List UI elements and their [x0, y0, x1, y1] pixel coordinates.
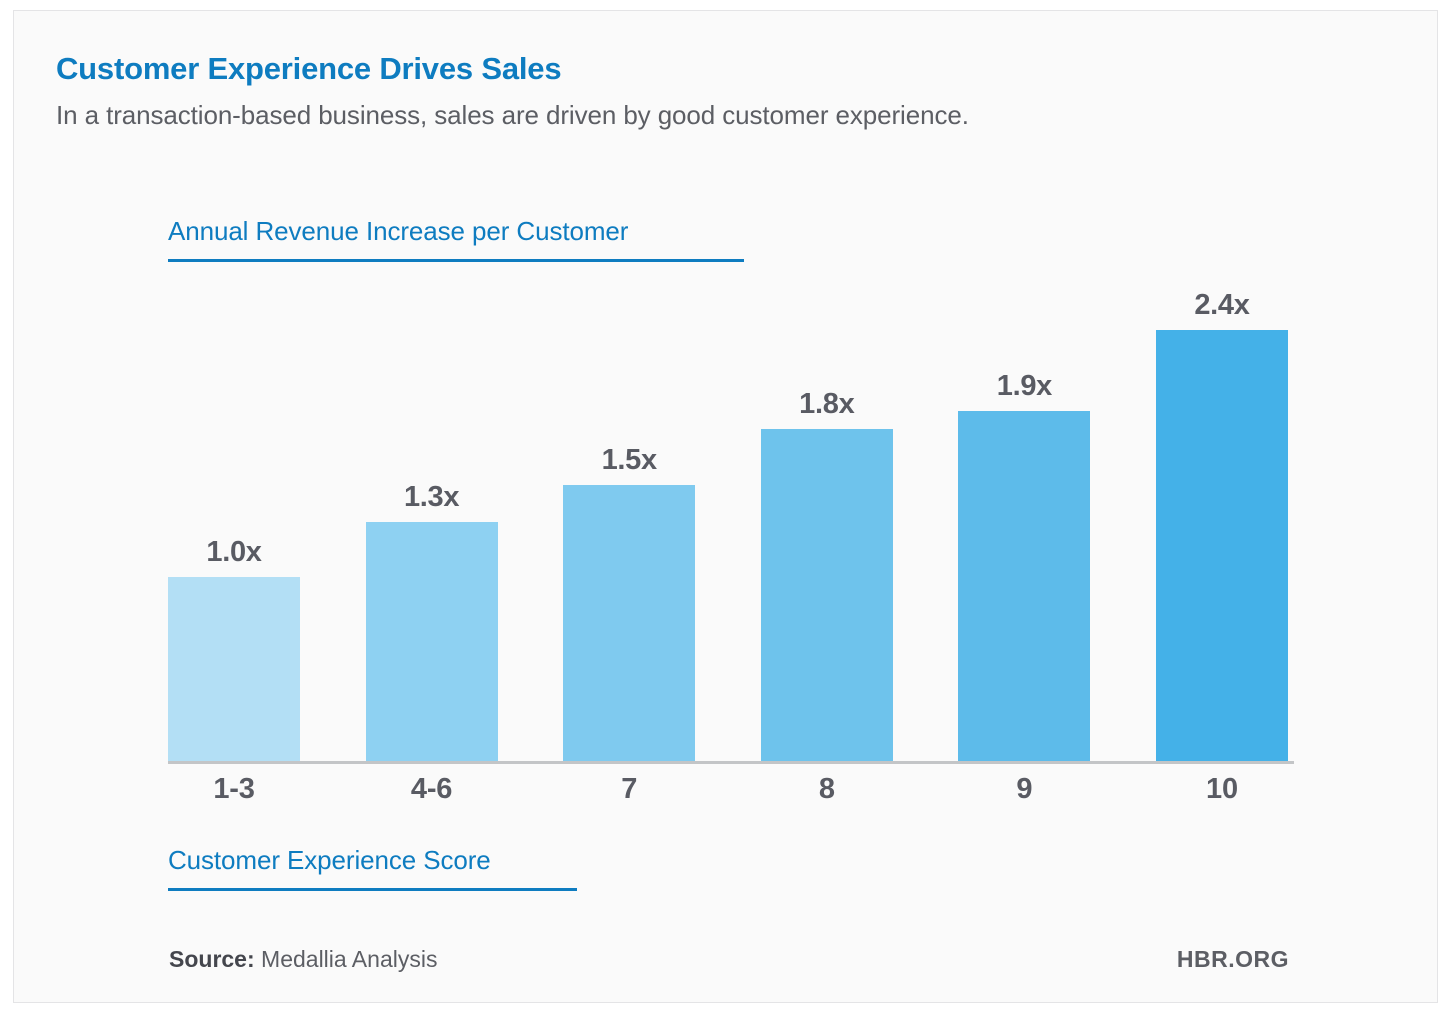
y-axis-title-underline: [168, 259, 744, 262]
bar-group: 1.0x: [168, 291, 300, 761]
bar-rect[interactable]: [168, 577, 300, 761]
plot-area: 1.0x 1.3x 1.5x 1.8x 1.9x 2.4x: [168, 291, 1288, 761]
x-axis-tick-label: 8: [761, 773, 893, 806]
chart-card: Customer Experience Drives Sales In a tr…: [13, 10, 1438, 1003]
bar-rect[interactable]: [563, 485, 695, 761]
x-axis-baseline: [168, 761, 1294, 764]
x-axis-tick-label: 10: [1156, 773, 1288, 806]
x-axis-tick-label: 1-3: [168, 773, 300, 806]
x-axis-tick-label: 4-6: [366, 773, 498, 806]
source-note-label: Source:: [169, 946, 255, 972]
page-subtitle: In a transaction-based business, sales a…: [56, 100, 969, 131]
bar-value-label: 2.4x: [1194, 291, 1249, 320]
bar-group: 1.3x: [366, 291, 498, 761]
source-note: Source: Medallia Analysis: [169, 946, 437, 973]
bar-group: 1.9x: [958, 291, 1090, 761]
x-axis-tick-label: 7: [563, 773, 695, 806]
x-axis-tick-label: 9: [958, 773, 1090, 806]
source-note-value: Medallia Analysis: [255, 946, 438, 972]
bar-value-label: 1.8x: [799, 390, 854, 419]
x-axis-title-label: Customer Experience Score: [168, 845, 577, 876]
bar-group: 1.8x: [761, 291, 893, 761]
bar-rect[interactable]: [366, 522, 498, 761]
bar-series: 1.0x 1.3x 1.5x 1.8x 1.9x 2.4x: [168, 291, 1288, 761]
x-axis-title: Customer Experience Score: [168, 845, 577, 891]
bar-value-label: 1.5x: [602, 446, 657, 475]
bar-rect[interactable]: [761, 429, 893, 761]
y-axis-title-label: Annual Revenue Increase per Customer: [168, 216, 744, 247]
brand-label: HBR.ORG: [1177, 946, 1289, 973]
x-axis-tick-labels: 1-3 4-6 7 8 9 10: [168, 773, 1288, 806]
bar-value-label: 1.0x: [206, 538, 261, 567]
x-axis-title-underline: [168, 888, 577, 891]
bar-rect[interactable]: [1156, 330, 1288, 761]
bar-group: 2.4x: [1156, 291, 1288, 761]
bar-rect[interactable]: [958, 411, 1090, 761]
y-axis-title: Annual Revenue Increase per Customer: [168, 216, 744, 262]
bar-value-label: 1.9x: [997, 372, 1052, 401]
bar-group: 1.5x: [563, 291, 695, 761]
page-title: Customer Experience Drives Sales: [56, 51, 561, 87]
bar-value-label: 1.3x: [404, 483, 459, 512]
